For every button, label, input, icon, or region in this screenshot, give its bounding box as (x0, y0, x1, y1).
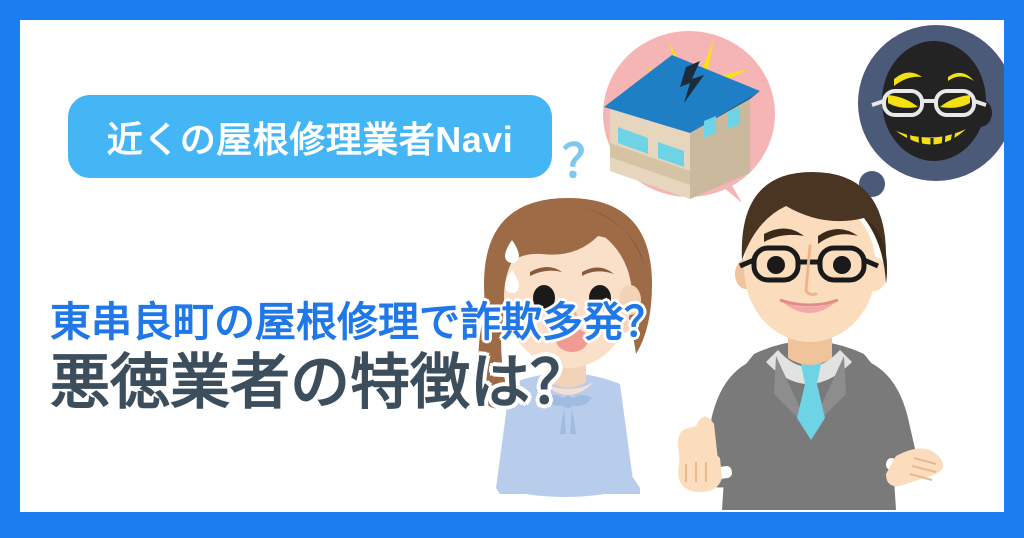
banner-inner: 近くの屋根修理業者Navi ？ 東串良町の屋根修理で詐欺多発？ 悪徳業者の特徴は… (20, 20, 1004, 512)
headline-subtitle: 東串良町の屋根修理で詐欺多発？ (50, 298, 665, 346)
man-eye (767, 256, 785, 274)
headline-title: 悪徳業者の特徴は？ (50, 348, 665, 419)
site-name-badge[interactable]: 近くの屋根修理業者Navi (68, 95, 552, 178)
question-mark-icon: ？ (562, 138, 608, 184)
headline-block: 東串良町の屋根修理で詐欺多発？ 悪徳業者の特徴は？ (50, 298, 665, 419)
banner-canvas: 近くの屋根修理業者Navi ？ 東串良町の屋根修理で詐欺多発？ 悪徳業者の特徴は… (0, 0, 1024, 538)
pointing-businessman-illustration (668, 168, 948, 512)
man-suit (700, 341, 918, 510)
man-eye (833, 256, 851, 274)
site-name-label: 近くの屋根修理業者Navi (107, 111, 514, 163)
